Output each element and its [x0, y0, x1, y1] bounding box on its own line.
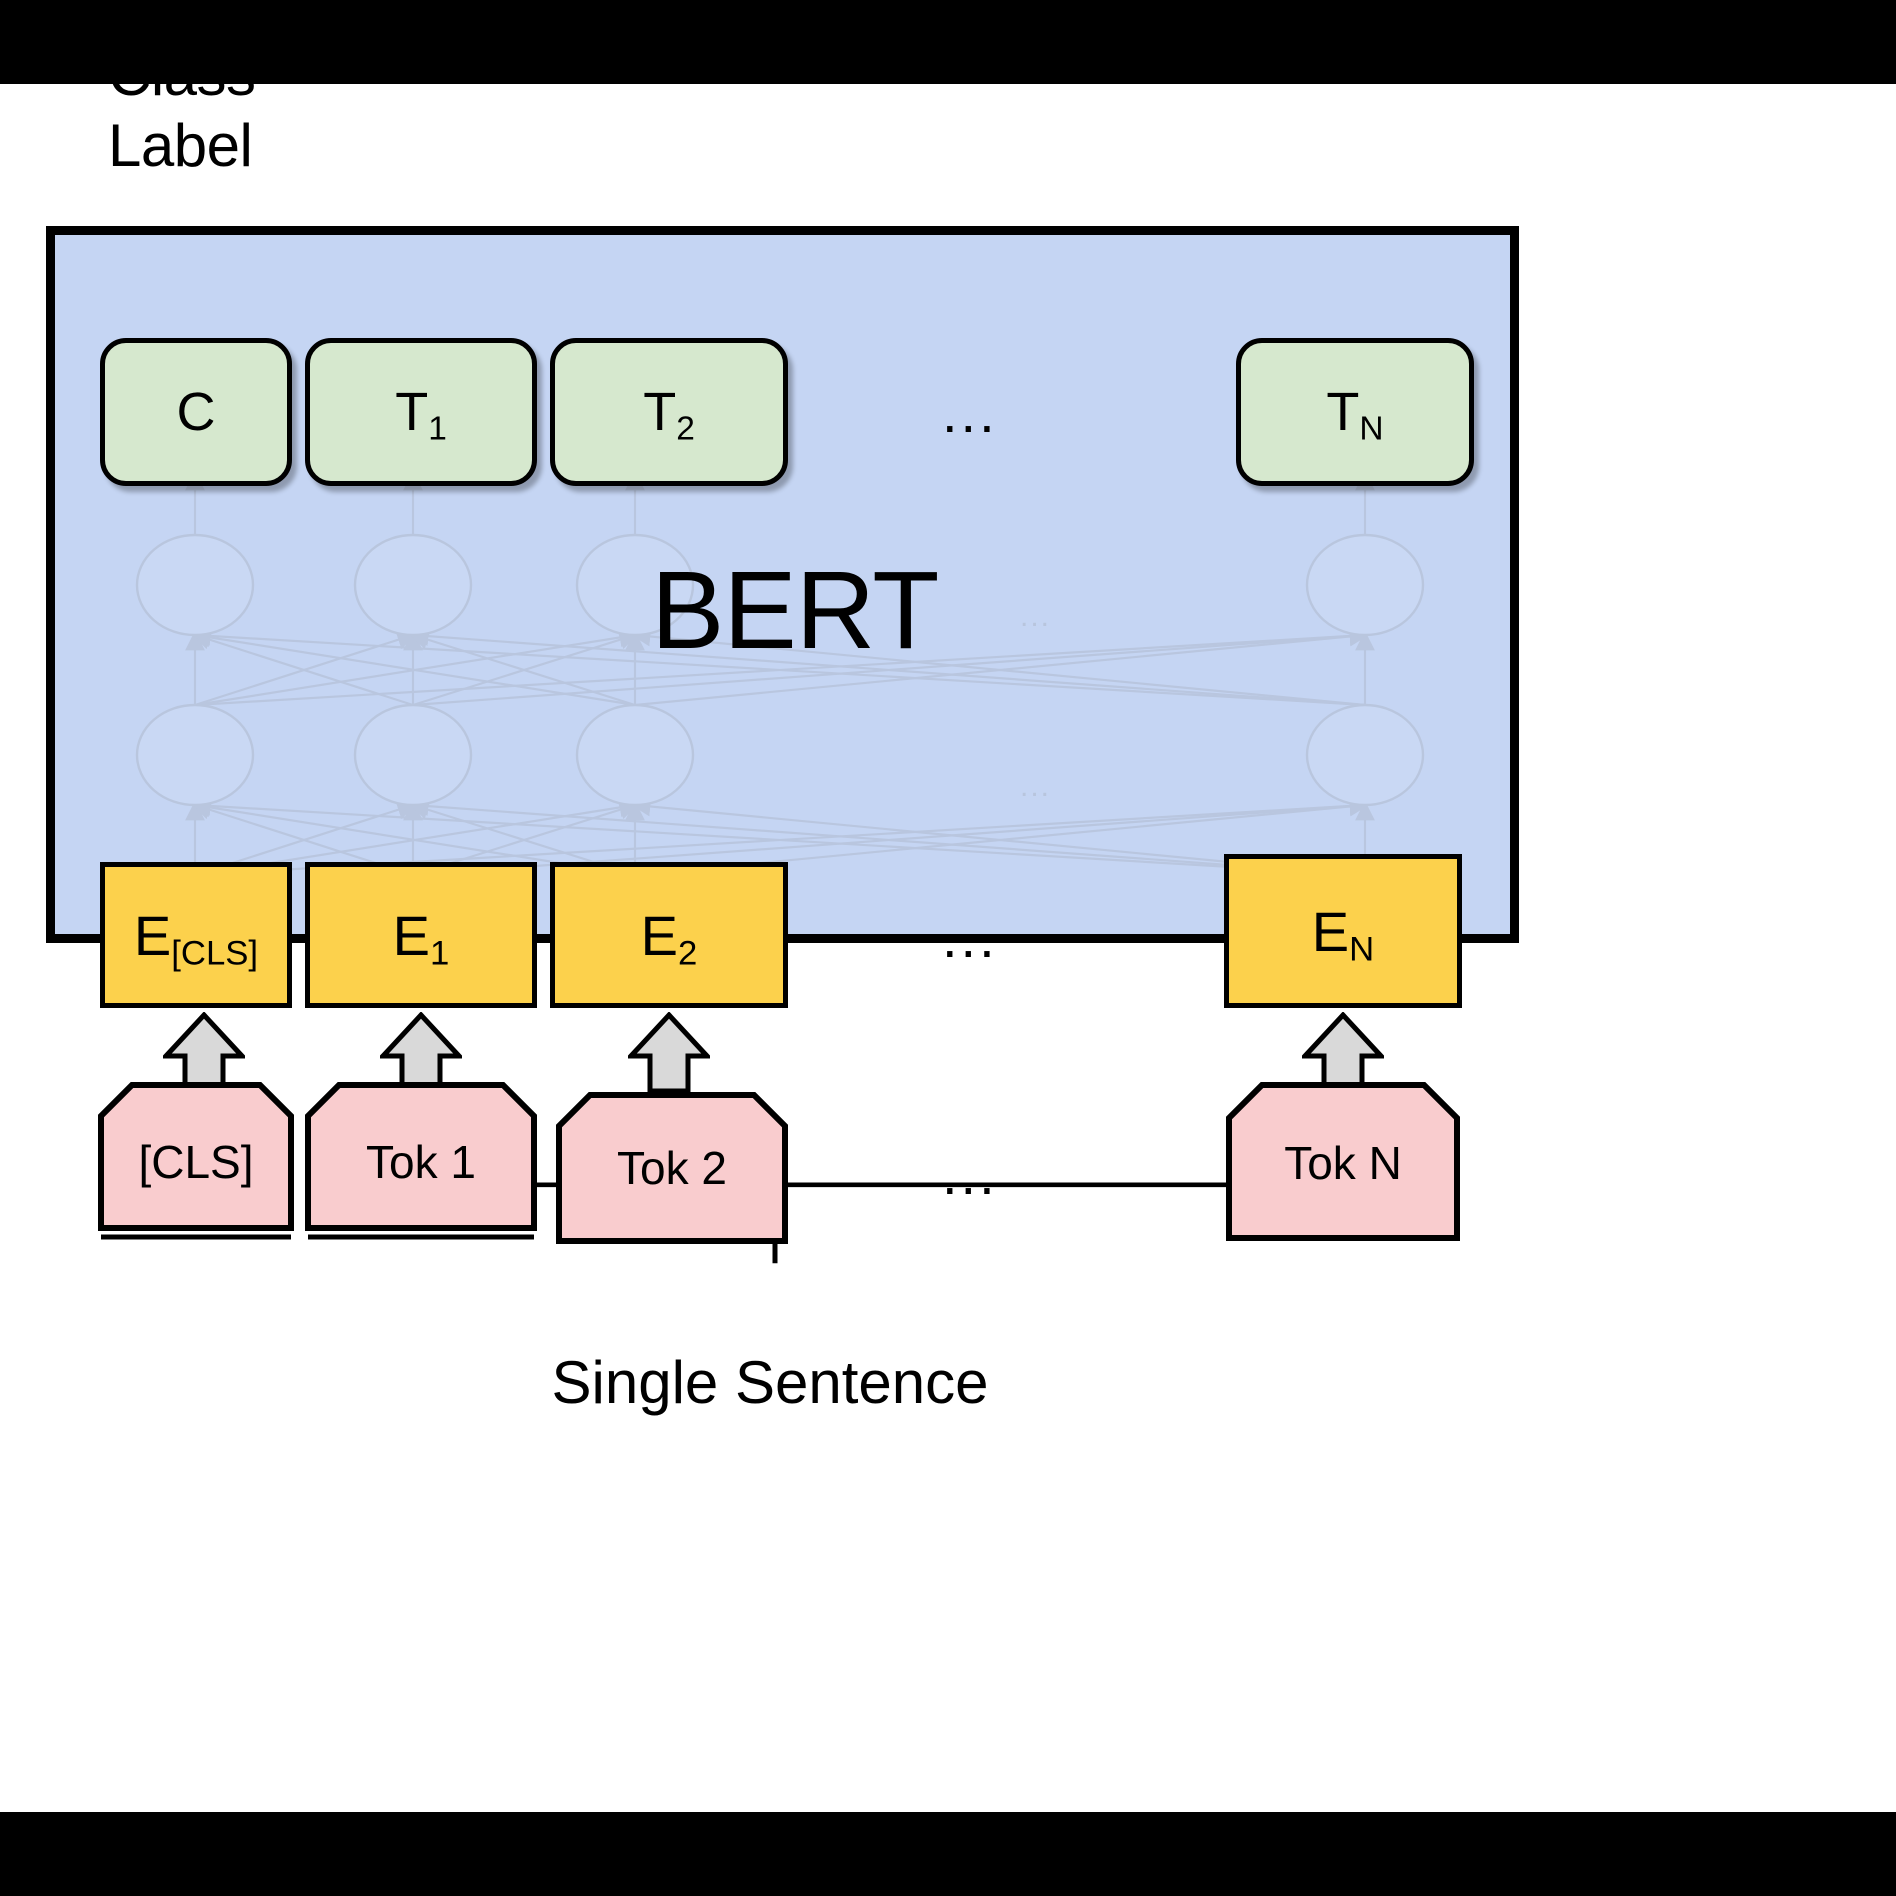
- output-label-tn: TN: [1326, 381, 1383, 443]
- input-arrow-tok2-icon: [628, 1012, 710, 1094]
- token-label-cls: [CLS]: [98, 1082, 294, 1242]
- token-row-ellipsis: ...: [942, 1142, 998, 1207]
- token-label-tok1: Tok 1: [305, 1082, 537, 1242]
- token-box-tok2[interactable]: Tok 2: [556, 1092, 788, 1244]
- token-box-tok1[interactable]: Tok 1: [305, 1082, 537, 1242]
- output-box-t1[interactable]: T1: [305, 338, 537, 486]
- output-box-tn[interactable]: TN: [1236, 338, 1474, 486]
- bert-title: BERT: [651, 547, 938, 674]
- output-label-c: C: [177, 381, 216, 443]
- network-ellipsis-row1: ...: [1020, 600, 1051, 634]
- single-sentence-caption: Single Sentence: [0, 1348, 1540, 1417]
- embedding-box-e1[interactable]: E1: [305, 862, 537, 1008]
- output-row-ellipsis: ...: [942, 380, 998, 445]
- embedding-box-cls[interactable]: E[CLS]: [100, 862, 292, 1008]
- embedding-label-e2: E2: [641, 903, 698, 968]
- embedding-box-en[interactable]: EN: [1224, 854, 1462, 1008]
- embedding-label-e1: E1: [393, 903, 450, 968]
- output-label-t2: T2: [643, 381, 695, 443]
- token-box-tokn[interactable]: Tok N: [1226, 1082, 1460, 1244]
- diagram-canvas: Class Label: [0, 0, 1896, 1896]
- embedding-row-ellipsis: ...: [942, 905, 998, 970]
- embedding-label-en: EN: [1312, 899, 1374, 964]
- network-ellipsis-row2: ...: [1020, 770, 1051, 804]
- embedding-box-e2[interactable]: E2: [550, 862, 788, 1008]
- output-box-c[interactable]: C: [100, 338, 292, 486]
- token-label-tok2: Tok 2: [556, 1092, 788, 1244]
- output-label-t1: T1: [395, 381, 447, 443]
- embedding-label-cls: E[CLS]: [134, 903, 258, 968]
- output-box-t2[interactable]: T2: [550, 338, 788, 486]
- token-label-tokn: Tok N: [1226, 1082, 1460, 1244]
- token-box-cls[interactable]: [CLS]: [98, 1082, 294, 1242]
